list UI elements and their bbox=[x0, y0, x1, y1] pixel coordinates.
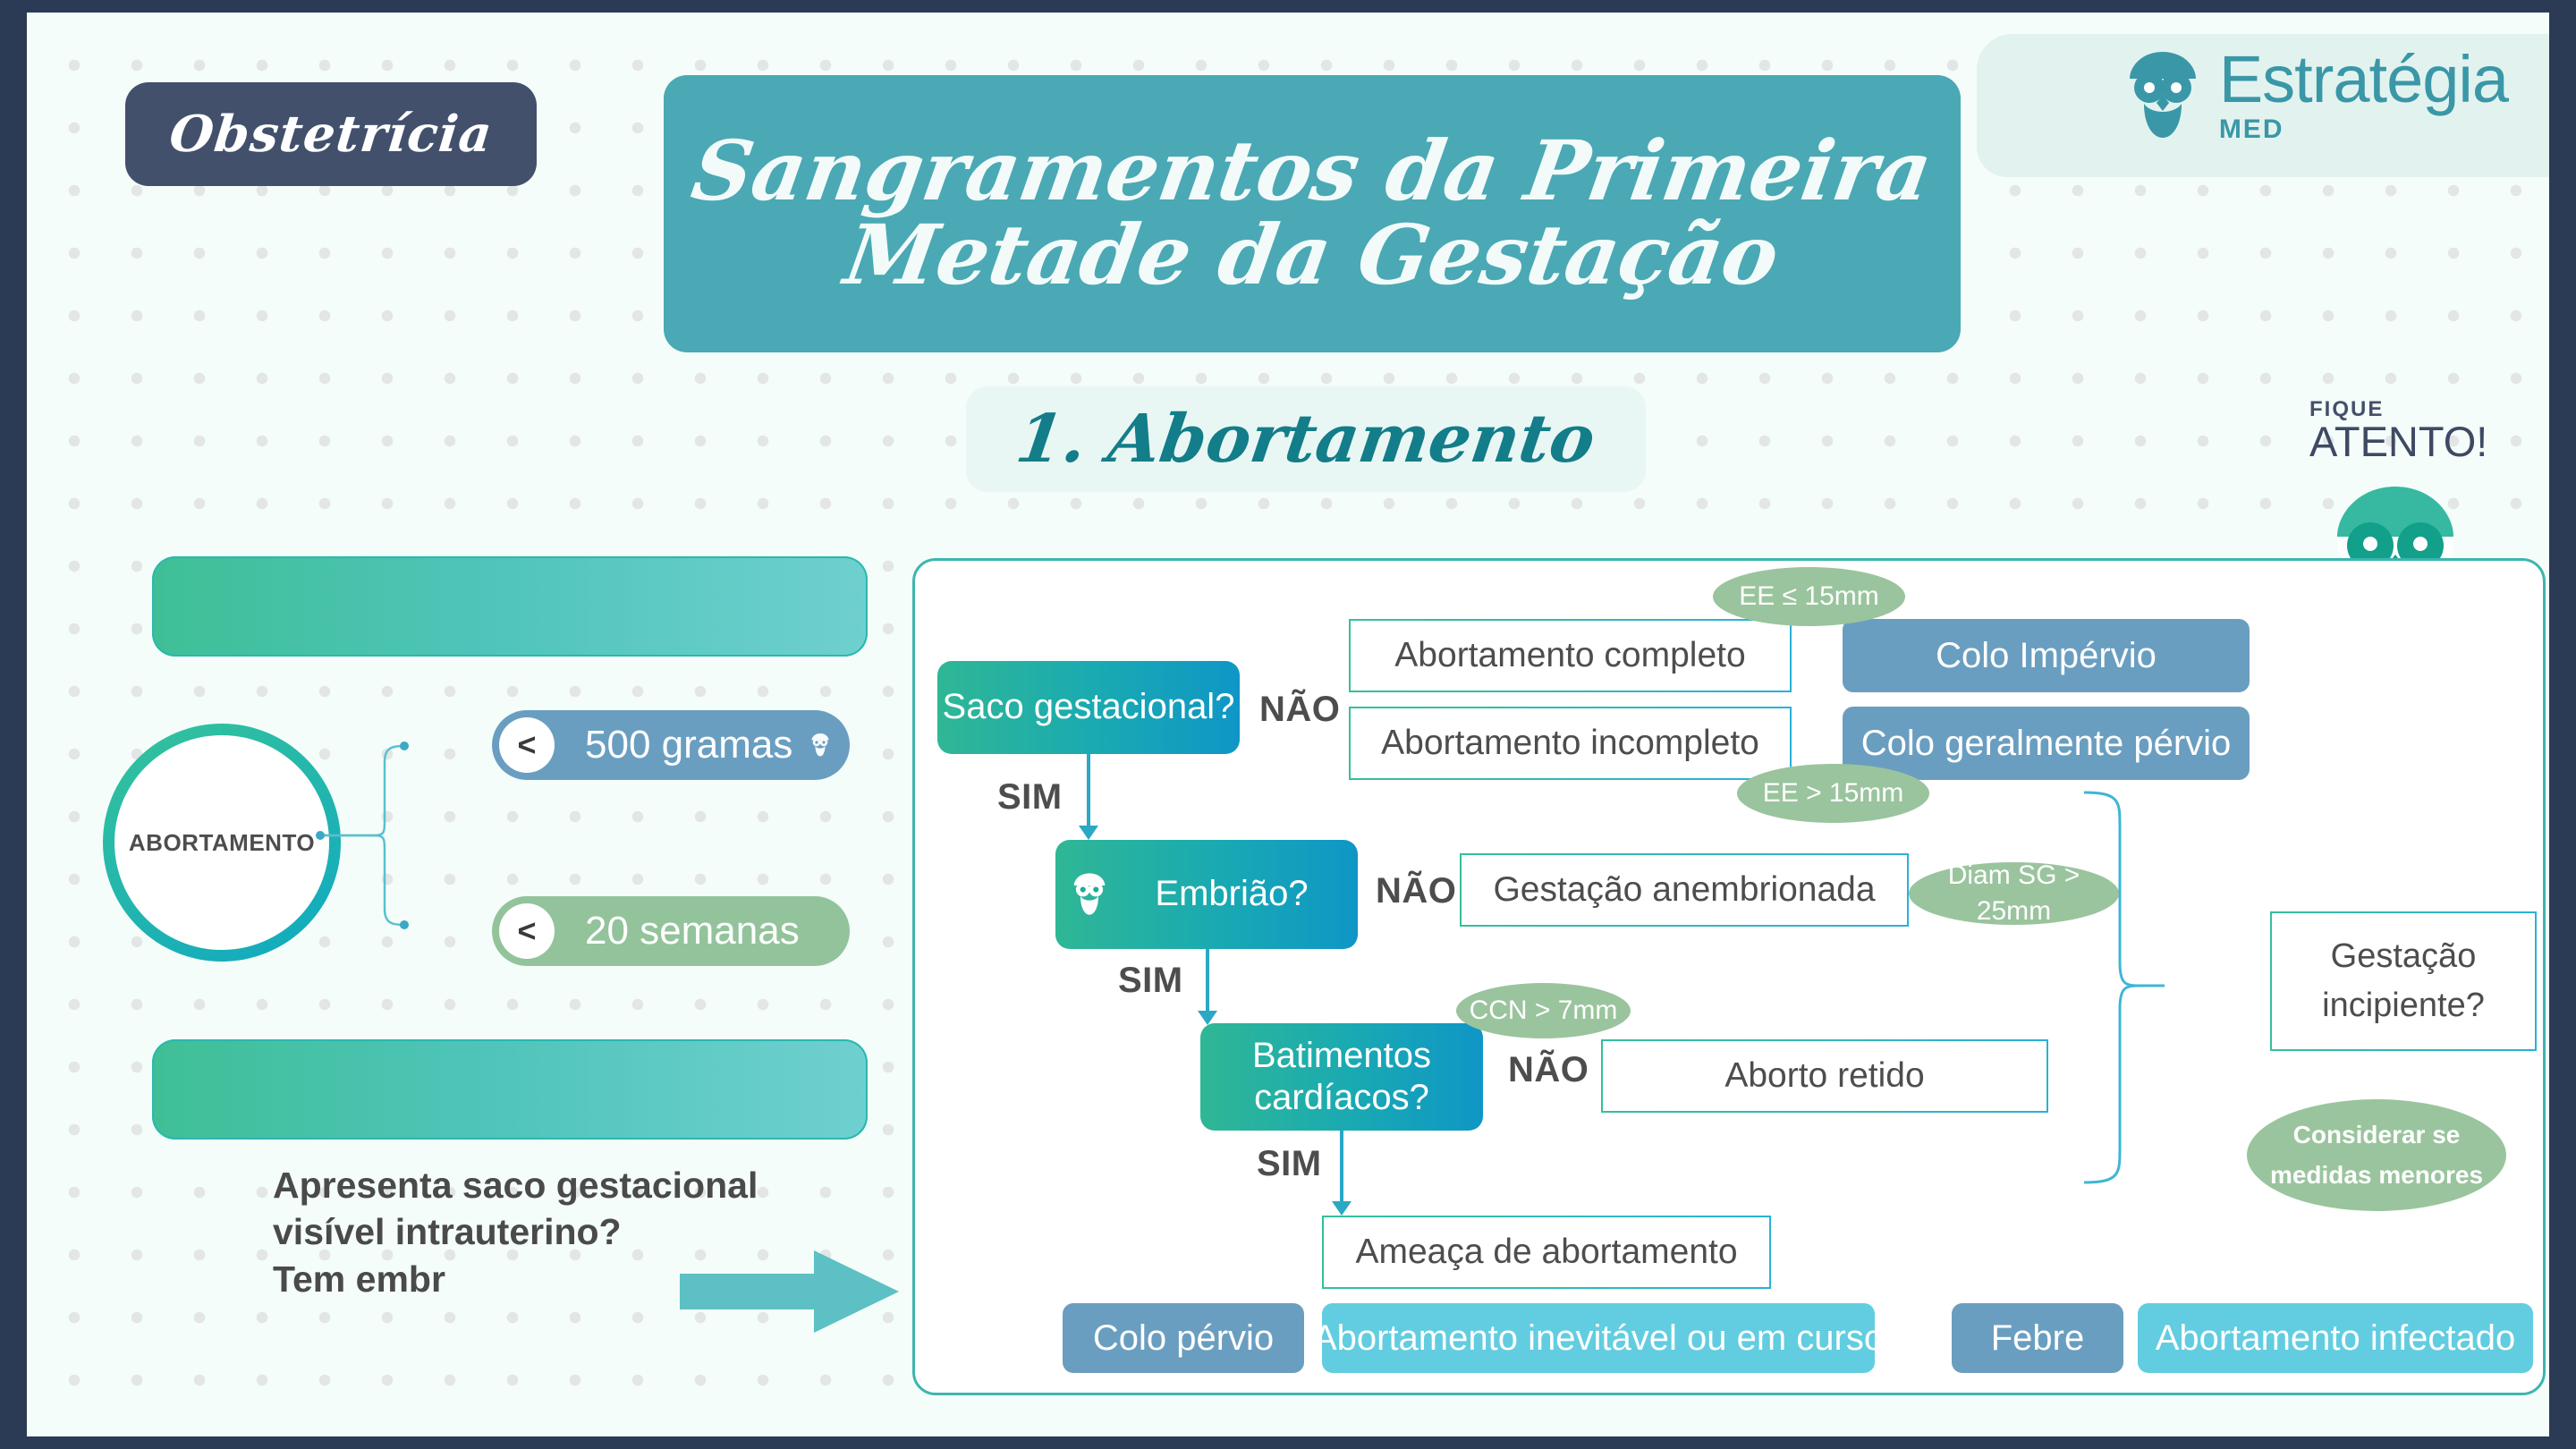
less-than-icon: < bbox=[499, 717, 555, 773]
measure-considerar-menores-line-1: Considerar se bbox=[2293, 1115, 2461, 1156]
question-saco-gestacional: Saco gestacional? bbox=[937, 661, 1240, 754]
criterion-weeks: < 20 semanas bbox=[492, 896, 850, 966]
abortamento-circle-label: ABORTAMENTO bbox=[129, 829, 315, 857]
measure-ccn: CCN > 7mm bbox=[1456, 983, 1631, 1038]
bottom-abortamento-inevitavel: Abortamento inevitável ou em curso bbox=[1322, 1303, 1875, 1373]
cervix-geralmente-pervio-label: Colo geralmente pérvio bbox=[1861, 724, 2232, 764]
left-note-line-1: Apresenta saco gestacional bbox=[273, 1162, 845, 1208]
brand-logo: Estratégia MED bbox=[2123, 47, 2508, 143]
empty-bar-bottom bbox=[152, 1039, 868, 1140]
outcome-gestacao-anembrionada: Gestação anembrionada bbox=[1460, 853, 1909, 927]
measure-ee-le-15mm: EE ≤ 15mm bbox=[1713, 567, 1905, 626]
title-line-1: Sangramentos da Primeira bbox=[687, 130, 1937, 214]
bottom-colo-pervio: Colo pérvio bbox=[1063, 1303, 1304, 1373]
category-badge-label: Obstetrícia bbox=[166, 105, 495, 164]
owl-icon-small bbox=[810, 733, 830, 758]
owl-icon bbox=[2123, 48, 2203, 141]
bottom-febre-label: Febre bbox=[1991, 1318, 2085, 1359]
question-batimentos-cardiacos: Batimentos cardíacos? bbox=[1200, 1023, 1483, 1131]
page-root: Obstetrícia Sangramentos da Primeira Met… bbox=[0, 0, 2576, 1449]
right-arrow-icon bbox=[680, 1245, 921, 1343]
subtitle-label: 1. Abortamento bbox=[1012, 401, 1599, 478]
owl-icon-small bbox=[1072, 871, 1107, 918]
title-line-2: Metade da Gestação bbox=[840, 214, 1784, 298]
infographic-canvas: Obstetrícia Sangramentos da Primeira Met… bbox=[27, 13, 2549, 1436]
branch-label-nao-3: NÃO bbox=[1508, 1050, 1589, 1090]
logo-sub: MED bbox=[2219, 116, 2508, 143]
empty-bar-top bbox=[152, 556, 868, 657]
bottom-abortamento-infectado: Abortamento infectado bbox=[2138, 1303, 2533, 1373]
criterion-weeks-label: 20 semanas bbox=[585, 909, 800, 953]
outcome-gestacao-anembrionada-label: Gestação anembrionada bbox=[1493, 869, 1875, 911]
cervix-geralmente-pervio: Colo geralmente pérvio bbox=[1843, 707, 2250, 780]
branch-label-nao-2: NÃO bbox=[1376, 871, 1456, 911]
subtitle-pill: 1. Abortamento bbox=[966, 386, 1646, 492]
outcome-abortamento-completo: Abortamento completo bbox=[1349, 619, 1792, 692]
outcome-ameaca-de-abortamento: Ameaça de abortamento bbox=[1322, 1216, 1771, 1289]
question-batimentos-cardiacos-label: Batimentos cardíacos? bbox=[1200, 1035, 1483, 1119]
outcome-aborto-retido-label: Aborto retido bbox=[1724, 1055, 1924, 1097]
criterion-weight: < 500 gramas bbox=[492, 710, 850, 780]
category-badge: Obstetrícia bbox=[125, 82, 537, 186]
outcome-aborto-retido: Aborto retido bbox=[1601, 1039, 2048, 1113]
less-than-icon: < bbox=[499, 903, 555, 959]
measure-diam-sg: Diam SG > 25mm bbox=[1909, 862, 2119, 925]
bottom-abortamento-infectado-label: Abortamento infectado bbox=[2156, 1318, 2515, 1359]
question-embriao-label: Embrião? bbox=[1155, 873, 1308, 915]
outcome-gestacao-incipiente: Gestação incipiente? bbox=[2270, 911, 2537, 1051]
outcome-ameaca-de-abortamento-label: Ameaça de abortamento bbox=[1355, 1232, 1737, 1274]
measure-ee-gt-15mm: EE > 15mm bbox=[1737, 764, 1929, 823]
abortamento-circle: ABORTAMENTO bbox=[103, 724, 341, 962]
measure-considerar-menores-line-2: medidas menores bbox=[2270, 1156, 2483, 1196]
criterion-weight-label: 500 gramas bbox=[585, 723, 792, 767]
measure-diam-sg-label: Diam SG > 25mm bbox=[1909, 858, 2119, 930]
question-embriao: Embrião? bbox=[1055, 840, 1358, 949]
measure-ee-le-15mm-label: EE ≤ 15mm bbox=[1739, 579, 1879, 615]
measure-considerar-menores: Considerar se medidas menores bbox=[2247, 1099, 2506, 1211]
bottom-abortamento-inevitavel-label: Abortamento inevitável ou em curso bbox=[1313, 1318, 1884, 1359]
logo-name: Estratégia bbox=[2219, 47, 2508, 113]
question-saco-gestacional-label: Saco gestacional? bbox=[943, 686, 1235, 728]
branch-label-sim-2: SIM bbox=[1118, 961, 1183, 1001]
bottom-febre: Febre bbox=[1952, 1303, 2123, 1373]
logo-text: Estratégia MED bbox=[2219, 47, 2508, 143]
criteria-connectors bbox=[315, 728, 503, 943]
outcome-gestacao-incipiente-line-1: Gestação bbox=[2331, 932, 2477, 981]
measure-ccn-label: CCN > 7mm bbox=[1470, 993, 1618, 1030]
outcome-abortamento-completo-label: Abortamento completo bbox=[1394, 635, 1745, 677]
outcome-gestacao-incipiente-line-2: incipiente? bbox=[2322, 981, 2485, 1030]
branch-label-nao-1: NÃO bbox=[1259, 690, 1340, 730]
branch-label-sim-3: SIM bbox=[1257, 1144, 1322, 1184]
cervix-impervio-label: Colo Impérvio bbox=[1936, 636, 2157, 676]
mascot-headline: ATENTO! bbox=[2309, 417, 2487, 466]
title-banner: Sangramentos da Primeira Metade da Gesta… bbox=[664, 75, 1961, 352]
measure-ee-gt-15mm-label: EE > 15mm bbox=[1763, 775, 1904, 812]
cervix-impervio: Colo Impérvio bbox=[1843, 619, 2250, 692]
bottom-colo-pervio-label: Colo pérvio bbox=[1093, 1318, 1274, 1359]
outcome-abortamento-incompleto-label: Abortamento incompleto bbox=[1381, 723, 1759, 765]
branch-label-sim-1: SIM bbox=[997, 777, 1063, 818]
outcome-abortamento-incompleto: Abortamento incompleto bbox=[1349, 707, 1792, 780]
